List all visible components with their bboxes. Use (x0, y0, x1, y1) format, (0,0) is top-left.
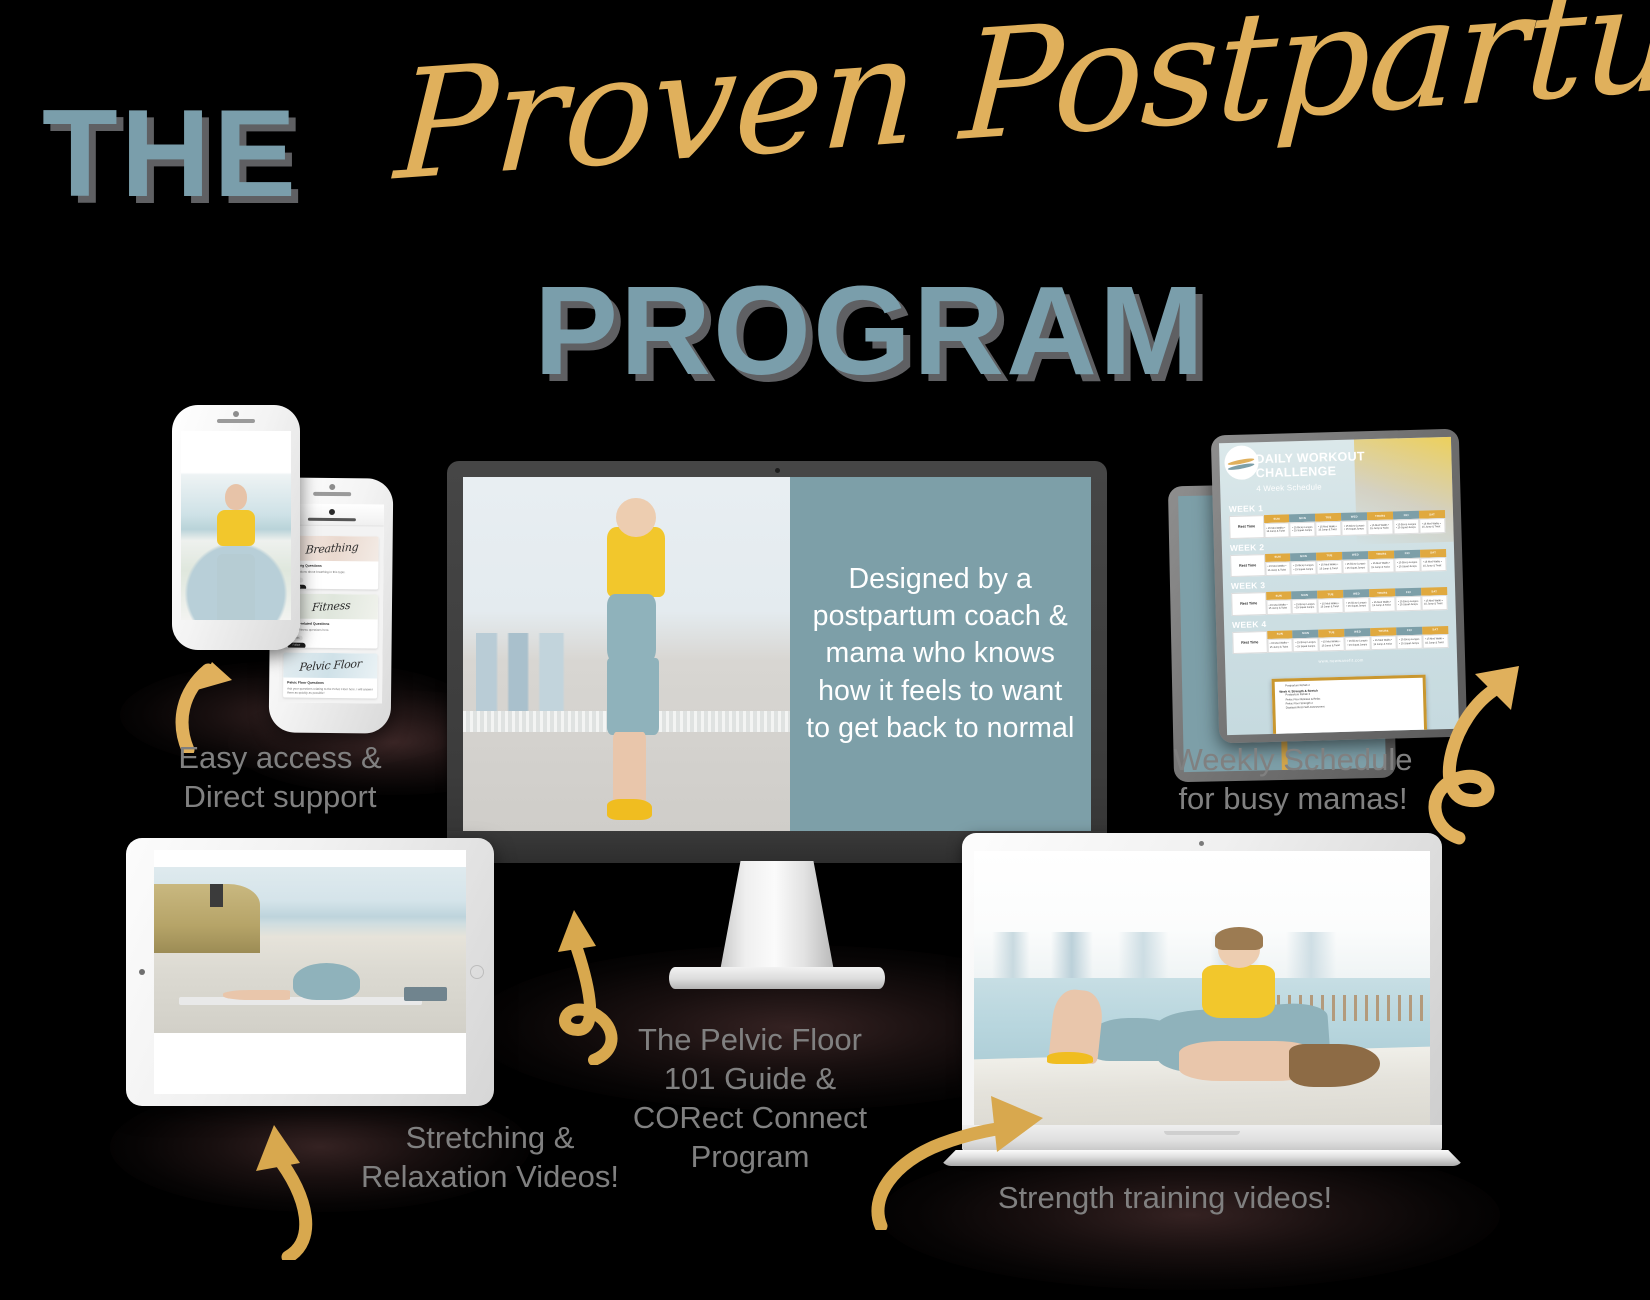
week-columns: SUN• 15 Med Walks • 15 Jump & Twist MON•… (1266, 587, 1448, 615)
tablet-camera-icon (139, 969, 145, 975)
topic-script-title: Fitness (311, 599, 350, 614)
day-column: MON• 15 Bicep Lunges • 15 Squat Jumps (1293, 629, 1320, 652)
week-columns: SUN• 15 Med Walks • 15 Jump & Twist MON•… (1264, 510, 1446, 538)
day-column: SAT• 15 Med Walks • 15 Jump & Twist (1419, 510, 1446, 533)
monitor-bezel: Designed by a postpartum coach & mama wh… (447, 461, 1107, 861)
figure-arms (223, 990, 290, 1000)
topic-description: Ask questions about breathing in this to… (288, 570, 374, 575)
day-cell: • 15 Med Walks • 15 Jump & Twist (1420, 556, 1446, 571)
day-column: SUN• 15 Med Walks • 15 Jump & Twist (1267, 630, 1294, 653)
day-cell: • 15 Bicep Lunges • 15 Squat Jumps (1343, 559, 1369, 574)
day-column: WED• 15 Bicep Lunges • 15 Squat Jumps (1343, 589, 1370, 612)
rest-time-cell: Rest Time (1229, 515, 1264, 538)
day-column: TUE• 15 Med Walks • 15 Jump & Twist (1319, 628, 1346, 651)
toddler-hair (1215, 927, 1263, 949)
device-phone-video[interactable] (172, 405, 300, 650)
rest-time-cell: Rest Time (1231, 592, 1266, 615)
schedule-website-url: www.newwavefit.com (1233, 655, 1449, 666)
photo-dumbbells-and-block (404, 987, 448, 1002)
topic-meta-row: 30 likes (288, 577, 374, 583)
headline-script-proven-postpartum: Proven Postpartum (392, 0, 1650, 202)
photo-childs-pose-figure (248, 963, 360, 999)
day-cell: • 15 Med Walks • 15 Jump & Twist (1419, 518, 1445, 533)
day-column: SAT• 15 Med Walks • 15 Jump & Twist (1421, 587, 1448, 610)
day-cell: • 15 Med Walks • 15 Jump & Twist (1267, 638, 1293, 653)
topic-heading: Breathing Questions (288, 564, 374, 569)
arrow-to-monitor-icon (528, 880, 648, 1065)
toddler-shirt (1202, 965, 1275, 1019)
monitor-stand-neck (720, 861, 834, 971)
schedule-weeks: WEEK 1 Rest Time SUN• 15 Med Walks • 15 … (1220, 488, 1457, 666)
topic-heading: Fitness-related Questions (288, 622, 374, 627)
day-cell: • 15 Med Walks • 15 Jump & Twist (1266, 599, 1292, 614)
day-cell: • 15 Bicep Lunges • 15 Squat Jumps (1394, 557, 1420, 572)
day-column: SUN• 15 Med Walks • 15 Jump & Twist (1265, 553, 1292, 576)
day-column: MON• 15 Bicep Lunges • 15 Squat Jumps (1289, 514, 1316, 537)
caption-pelvic-floor-guide: The Pelvic Floor 101 Guide & CORect Conn… (585, 1020, 915, 1176)
day-cell: • 15 Med Walks • 15 Jump & Twist (1319, 636, 1345, 651)
day-cell: • 15 Med Walks • 15 Jump & Twist (1265, 561, 1291, 576)
day-column: WED• 15 Bicep Lunges • 15 Squat Jumps (1341, 512, 1368, 535)
phone-speaker-icon (217, 419, 255, 423)
laptop-lid (962, 833, 1442, 1151)
headline-program: PROGRAM (534, 268, 1206, 394)
photo-mom-shorts (607, 658, 659, 736)
day-cell: • 15 Bicep Lunges • 15 Squat Jumps (1291, 560, 1317, 575)
day-column: MON• 15 Bicep Lunges • 15 Squat Jumps (1292, 591, 1319, 614)
app-logo-icon (329, 509, 335, 515)
day-column: SAT• 15 Med Walks • 15 Jump & Twist (1420, 548, 1447, 571)
day-column: TUE• 15 Med Walks • 15 Jump & Twist (1318, 590, 1345, 613)
monitor-camera-icon (775, 468, 780, 473)
day-cell: • 15 Med Walks • 15 Jump & Twist (1371, 635, 1397, 650)
laptop-screen[interactable] (974, 851, 1430, 1139)
day-column: THURS• 15 Med Walks • 15 Jump & Twist (1369, 588, 1396, 611)
day-column: FRI• 15 Bicep Lunges • 15 Squat Jumps (1393, 511, 1420, 534)
day-column: SUN• 15 Med Walks • 15 Jump & Twist (1266, 591, 1293, 614)
day-cell: • 15 Bicep Lunges • 15 Squat Jumps (1293, 637, 1319, 652)
topic-description: Ask your questions relating to the Pelvi… (287, 686, 373, 696)
caption-strength-videos: Strength training videos! (945, 1178, 1385, 1217)
photo-mom-top (607, 594, 656, 665)
caption-stretching-videos: Stretching & Relaxation Videos! (316, 1118, 664, 1196)
laptop-camera-icon (1199, 841, 1204, 846)
day-cell: • 15 Med Walks • 15 Jump & Twist (1370, 596, 1396, 611)
topic-heading: Pelvic Floor Questions (287, 680, 373, 685)
workout-schedule-screen: DAILY WORKOUT CHALLENGE 4 Week Schedule … (1219, 437, 1459, 735)
topic-meta-row: 30 likes (288, 635, 374, 641)
day-column: MON• 15 Bicep Lunges • 15 Squat Jumps (1291, 552, 1318, 575)
coach-photo (181, 431, 291, 620)
day-column: FRI• 15 Bicep Lunges • 15 Squat Jumps (1394, 549, 1421, 572)
day-column: TUE• 15 Med Walks • 15 Jump & Twist (1315, 513, 1342, 536)
monitor-stand-base (669, 967, 885, 989)
device-desktop-monitor[interactable]: Designed by a postpartum coach & mama wh… (447, 461, 1107, 861)
monitor-promo-text: Designed by a postpartum coach & mama wh… (806, 561, 1075, 746)
day-cell: • 15 Med Walks • 15 Jump & Twist (1316, 521, 1342, 536)
day-cell: • 15 Med Walks • 15 Jump & Twist (1367, 519, 1393, 534)
monitor-screen[interactable]: Designed by a postpartum coach & mama wh… (463, 477, 1091, 831)
promo-graphic-canvas: THE Proven Postpartum PROGRAM (0, 0, 1650, 1300)
day-column: SAT• 15 Med Walks • 15 Jump & Twist (1422, 625, 1449, 648)
device-laptop-strength[interactable] (940, 833, 1464, 1178)
topic-card-pelvic-floor[interactable]: Pelvic Floor Pelvic Floor Questions Ask … (283, 652, 377, 698)
laptop-base (940, 1150, 1464, 1166)
topic-script-title: Pelvic Floor (299, 657, 362, 674)
nav-pill-icon (308, 518, 356, 522)
day-cell: • 15 Bicep Lunges • 15 Squat Jumps (1344, 597, 1370, 612)
monitor-promo-panel: Designed by a postpartum coach & mama wh… (790, 477, 1091, 831)
program-outline-sheet: Postpartum Rehab 2 Week 4: Strength & St… (1272, 674, 1427, 735)
day-cell: • 15 Med Walks • 15 Jump & Twist (1317, 559, 1343, 574)
day-cell: • 15 Bicep Lunges • 15 Squat Jumps (1393, 519, 1419, 534)
photo-mom-shoes (607, 799, 653, 820)
day-column: THURS• 15 Med Walks • 15 Jump & Twist (1370, 627, 1397, 650)
topic-banner-pelvic-floor: Pelvic Floor (283, 652, 377, 678)
day-cell: • 15 Med Walks • 15 Jump & Twist (1264, 522, 1290, 537)
week-columns: SUN• 15 Med Walks • 15 Jump & Twist MON•… (1267, 625, 1449, 653)
phone-screen-coach-photo[interactable] (181, 431, 291, 620)
coach-head (225, 484, 247, 510)
day-cell: • 15 Bicep Lunges • 15 Squat Jumps (1395, 596, 1421, 611)
coach-figure (206, 484, 266, 620)
photo-toddler (1202, 932, 1275, 1018)
phone2-front-camera-icon (329, 484, 335, 490)
tablet-home-button-icon[interactable] (470, 965, 484, 979)
week-table: Rest Time SUN• 15 Med Walks • 15 Jump & … (1232, 625, 1449, 654)
headline-the: THE (42, 92, 299, 216)
device-tablet-workout-schedule[interactable]: DAILY WORKOUT CHALLENGE 4 Week Schedule … (1211, 429, 1468, 744)
week-table: Rest Time SUN• 15 Med Walks • 15 Jump & … (1231, 587, 1448, 616)
day-cell: • 15 Med Walks • 15 Jump & Twist (1422, 633, 1448, 648)
phone-front-camera-icon (233, 411, 239, 417)
monitor-photo-mom-lifting-toddler (463, 477, 790, 831)
topic-script-title: Breathing (305, 540, 359, 556)
device-tablet-stretching[interactable] (126, 838, 494, 1106)
day-column: FRI• 15 Bicep Lunges • 15 Squat Jumps (1396, 626, 1423, 649)
day-column: THURS• 15 Med Walks • 15 Jump & Twist (1368, 550, 1395, 573)
coach-top (217, 510, 255, 546)
day-column: FRI• 15 Bicep Lunges • 15 Squat Jumps (1395, 588, 1422, 611)
rest-time-cell: Rest Time (1230, 554, 1265, 577)
photo-toddler-shirt (607, 527, 666, 598)
day-column: WED• 15 Bicep Lunges • 15 Squat Jumps (1342, 551, 1369, 574)
arrow-to-tablet-icon (230, 1095, 350, 1260)
photo-post (210, 884, 222, 907)
day-cell: • 15 Bicep Lunges • 15 Squat Jumps (1341, 520, 1367, 535)
caption-easy-access: Easy access & Direct support (110, 738, 450, 816)
topic-body: Pelvic Floor Questions Ask your question… (283, 677, 377, 698)
phone2-speaker-icon (313, 492, 351, 496)
day-column: SUN• 15 Med Walks • 15 Jump & Twist (1264, 514, 1291, 537)
figure-hips (293, 963, 360, 999)
tablet-stretch-screen[interactable] (154, 850, 466, 1094)
day-cell: • 15 Bicep Lunges • 15 Squat Jumps (1345, 636, 1371, 651)
rest-time-cell: Rest Time (1232, 631, 1267, 654)
laptop-notch-icon (1164, 1131, 1240, 1135)
coach-pants (217, 554, 255, 620)
day-column: THURS• 15 Med Walks • 15 Jump & Twist (1367, 511, 1394, 534)
photo-mom-legs (613, 732, 646, 806)
day-column: WED• 15 Bicep Lunges • 15 Squat Jumps (1344, 628, 1371, 651)
photo-toddler-head (616, 498, 655, 537)
headline-block: THE Proven Postpartum PROGRAM (0, 0, 1650, 420)
day-cell: • 15 Med Walks • 15 Jump & Twist (1368, 558, 1394, 573)
week-columns: SUN• 15 Med Walks • 15 Jump & Twist MON•… (1265, 548, 1447, 576)
laptop-hinge (962, 1125, 1442, 1151)
day-cell: • 15 Bicep Lunges • 15 Squat Jumps (1397, 634, 1423, 649)
photo-beach-grass (154, 884, 260, 954)
day-cell: • 15 Bicep Lunges • 15 Squat Jumps (1292, 599, 1318, 614)
week-table: Rest Time SUN• 15 Med Walks • 15 Jump & … (1230, 548, 1447, 577)
photo-skyline (476, 633, 587, 718)
day-cell: • 15 Bicep Lunges • 15 Squat Jumps (1290, 522, 1316, 537)
day-column: TUE• 15 Med Walks • 15 Jump & Twist (1316, 551, 1343, 574)
schedule-title: DAILY WORKOUT CHALLENGE (1255, 447, 1444, 480)
day-cell: • 15 Med Walks • 15 Jump & Twist (1421, 595, 1447, 610)
week-table: Rest Time SUN• 15 Med Walks • 15 Jump & … (1229, 510, 1446, 539)
stretch-video-photo (154, 867, 466, 1033)
legs-shoe (1047, 1052, 1094, 1064)
topic-description: Ask any fitness questions here. (288, 628, 374, 633)
day-cell: • 15 Med Walks • 15 Jump & Twist (1318, 598, 1344, 613)
